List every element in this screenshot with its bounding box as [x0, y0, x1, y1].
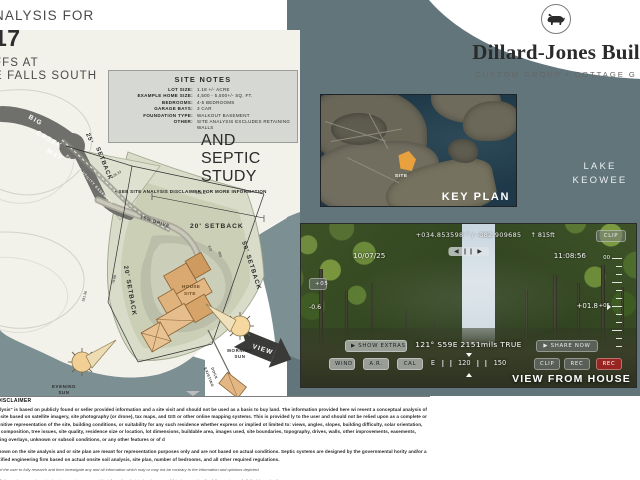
site-notes-label: OTHER:	[115, 119, 197, 132]
show-extras-button[interactable]: ▶ SHOW EXTRAS	[345, 340, 407, 352]
key-plan-landmass	[463, 101, 517, 141]
hud-compass-tick-label: 150	[494, 359, 507, 367]
site-notes-box: SITE NOTES LOT SIZE: 1.18 +/- ACRE EXAMP…	[108, 70, 298, 143]
calibrate-button[interactable]: CAL	[397, 358, 423, 370]
setback-20-top-label: 20' SETBACK	[190, 223, 244, 230]
disclaimer-fine-print-1: ility of the user to fully research and …	[0, 467, 430, 474]
site-notes-value: SITE ANALYSIS EXCLUDES RETAINING WALLS	[197, 119, 291, 132]
hud-pitch-ladder: 00 +05	[612, 258, 622, 354]
lake-label-line2: KEOWEE	[555, 174, 640, 188]
lake-label: LAKE KEOWEE	[555, 160, 640, 189]
page-title-line-1: NALYSIS FOR	[0, 8, 244, 23]
hud-date: 10/07/25	[353, 251, 385, 260]
hud-compass-tick-label: 120	[458, 359, 471, 367]
site-notes-value-continued: AND SEPTIC STUDY	[201, 132, 291, 186]
hud-compass-tick-label: E	[431, 359, 435, 367]
clip-button[interactable]: CLIP	[534, 358, 560, 370]
dog-glyph	[546, 13, 566, 26]
hud-ladder-label: 00	[603, 255, 610, 261]
disclaimer-title: S DISCLAIMER	[0, 398, 430, 404]
house-site-label: HOUSE	[182, 284, 200, 289]
wind-button[interactable]: WIND	[329, 358, 355, 370]
hud-ladder-label: +05	[599, 303, 610, 309]
photo-hud-overlay: +034.853598 ° / -082.909685 ↑ 815ft 10/0…	[301, 224, 636, 387]
page-title-line-2: 17	[0, 25, 244, 52]
photo-panel-title: VIEW FROM HOUSE	[512, 373, 631, 385]
brand-block: Dillard-Jones Buil CUSTOM GROUP • COTTAG…	[406, 4, 640, 79]
site-notes-row: OTHER: SITE ANALYSIS EXCLUDES RETAINING …	[115, 119, 291, 132]
record-button[interactable]: REC	[596, 358, 622, 370]
lake-label-line1: LAKE	[555, 160, 640, 174]
key-plan-panel[interactable]: SITE KEY PLAN	[320, 94, 517, 207]
svg-text:SUN: SUN	[58, 390, 69, 395]
zoom-button[interactable]: +05	[309, 278, 327, 290]
hud-compass-caret-up-icon	[466, 353, 472, 357]
hud-compass-readout: 121° S59E 2151mils TRUE	[415, 340, 522, 349]
brand-subtitle: CUSTOM GROUP • COTTAGE G	[406, 70, 640, 79]
hud-coordinates: +034.853598 ° / -082.909685	[416, 231, 522, 239]
evening-sun-label: EVENING	[52, 384, 76, 389]
disclaimer-divider	[0, 396, 430, 397]
disclaimer-paragraph-2: s shown on the site analysis and or site…	[0, 448, 430, 463]
menu-button[interactable]: CLIP	[596, 230, 626, 242]
key-plan-site-label: SITE	[395, 173, 408, 178]
hud-pitch-right: +01.8	[577, 302, 598, 310]
disclaimer-block: S DISCLAIMER analysis" is based on publi…	[0, 396, 430, 480]
dog-silhouette-icon	[541, 4, 571, 34]
site-analysis-page: LAKE KEOWEE	[0, 0, 640, 480]
ar-button[interactable]: A.R.	[363, 358, 389, 370]
rec-button[interactable]: REC	[564, 358, 590, 370]
hud-compass-caret-down-icon	[466, 373, 472, 377]
morning-sun-label: MORNING	[227, 348, 252, 353]
key-plan-island	[448, 139, 478, 163]
page-title-line-3: FFS AT	[0, 57, 244, 69]
share-now-button[interactable]: ▶ SHARE NOW	[536, 340, 598, 352]
site-notes-footnote: • SEE SITE ANALYSIS DISCLAIMER FOR MORE …	[115, 189, 291, 194]
key-plan-title: KEY PLAN	[442, 191, 510, 203]
hud-time: 11:08:56	[554, 251, 586, 260]
hud-compass-scale: E 120 150	[431, 359, 506, 367]
hud-play-control[interactable]: ◀ ❙❙ ▶	[448, 247, 489, 256]
svg-text:SUN: SUN	[234, 354, 245, 359]
brand-name: Dillard-Jones Buil	[406, 40, 640, 65]
hud-pitch-left: -0.6	[309, 304, 321, 311]
svg-text:SITE: SITE	[184, 291, 196, 296]
disclaimer-paragraph-1: analysis" is based on publicly found or …	[0, 406, 430, 443]
view-from-house-photo[interactable]: +034.853598 ° / -082.909685 ↑ 815ft 10/0…	[300, 223, 637, 388]
site-notes-title: SITE NOTES	[115, 75, 291, 84]
hud-altitude: ↑ 815ft	[531, 231, 555, 239]
